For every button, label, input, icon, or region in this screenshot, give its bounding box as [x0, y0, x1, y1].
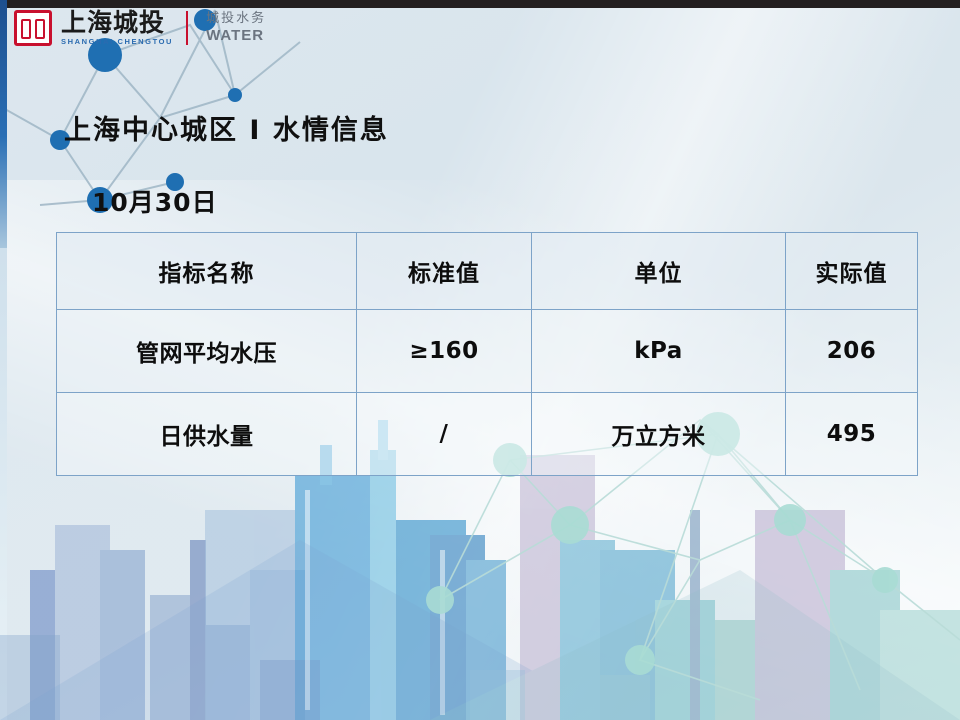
logo-divider — [186, 11, 188, 45]
cell-standard-value: / — [357, 393, 532, 476]
column-header-standard: 标准值 — [357, 233, 532, 310]
cell-standard-value: ≥160 — [357, 310, 532, 393]
column-header-unit: 单位 — [532, 233, 786, 310]
brand-sub-en: WATER — [206, 27, 266, 44]
page-title: 上海中心城区 Ⅰ 水情信息 — [64, 108, 389, 147]
brand-name-cn: 上海城投 — [61, 10, 173, 36]
slide-canvas: 上海城投 SHANGHAI CHENGTOU 城投水务 WATER 上海中心城区… — [0, 0, 960, 720]
brand-sub-cn: 城投水务 — [206, 12, 266, 26]
cell-indicator-name: 日供水量 — [57, 393, 357, 476]
table-header: 指标名称 标准值 单位 实际值 — [57, 233, 918, 310]
brand-name-en: SHANGHAI CHENGTOU — [61, 37, 173, 46]
column-header-indicator: 指标名称 — [57, 233, 357, 310]
column-header-actual: 实际值 — [786, 233, 918, 310]
cell-unit: kPa — [532, 310, 786, 393]
brand-logo-text: 上海城投 SHANGHAI CHENGTOU — [61, 10, 173, 46]
brand-logo: 上海城投 SHANGHAI CHENGTOU 城投水务 WATER — [14, 10, 266, 46]
report-date: 10月30日 — [92, 183, 218, 219]
water-info-table: 指标名称 标准值 单位 实际值 管网平均水压 ≥160 kPa 206 日供水量… — [56, 232, 918, 476]
chengtou-logo-icon — [14, 10, 52, 46]
cell-actual-value: 495 — [786, 393, 918, 476]
table-row: 日供水量 / 万立方米 495 — [57, 393, 918, 476]
top-accent-band — [0, 0, 960, 8]
table-row: 管网平均水压 ≥160 kPa 206 — [57, 310, 918, 393]
cell-unit: 万立方米 — [532, 393, 786, 476]
cell-actual-value: 206 — [786, 310, 918, 393]
left-accent-band-lower — [0, 248, 7, 720]
brand-sub-lockup: 城投水务 WATER — [206, 12, 266, 44]
table-header-row: 指标名称 标准值 单位 实际值 — [57, 233, 918, 310]
table-body: 管网平均水压 ≥160 kPa 206 日供水量 / 万立方米 495 — [57, 310, 918, 476]
cell-indicator-name: 管网平均水压 — [57, 310, 357, 393]
left-accent-band — [0, 0, 7, 248]
